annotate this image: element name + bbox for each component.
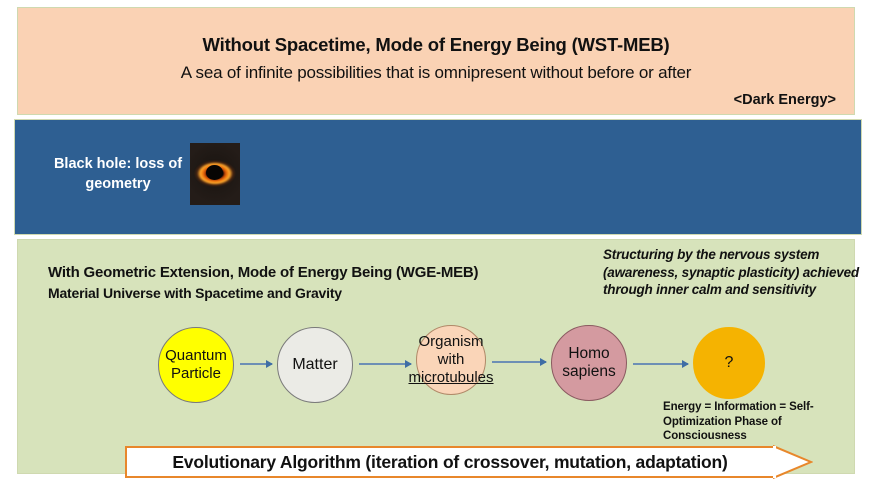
node-quantum-line1: Quantum bbox=[165, 347, 227, 365]
black-hole-core bbox=[206, 165, 223, 180]
evolutionary-algorithm-banner: Evolutionary Algorithm (iteration of cro… bbox=[125, 446, 810, 478]
node-quantum-line2: Particle bbox=[165, 365, 227, 383]
with-entangled-bridging-panel: Black hole: loss of geometry With Entang… bbox=[14, 119, 862, 235]
node-homo-line1: Homo bbox=[562, 345, 615, 363]
connector-quantum-to-matter bbox=[240, 363, 272, 365]
wge-panel-subtitle: Material Universe with Spacetime and Gra… bbox=[48, 285, 342, 301]
node-organism-line2: with bbox=[408, 351, 493, 369]
wst-panel-subtitle: A sea of infinite possibilities that is … bbox=[18, 63, 854, 83]
node-organism-line1: Organism bbox=[408, 333, 493, 351]
node-organism-with-microtubules[interactable]: Organism with microtubules bbox=[416, 325, 486, 395]
connector-matter-to-organism bbox=[359, 363, 411, 365]
node-homo-sapiens[interactable]: Homo sapiens bbox=[551, 325, 627, 401]
connector-homo-to-unknown bbox=[633, 363, 688, 365]
wst-panel-title: Without Spacetime, Mode of Energy Being … bbox=[18, 34, 854, 56]
node-organism-line3: microtubules bbox=[408, 369, 493, 387]
dark-energy-tag: <Dark Energy> bbox=[734, 92, 836, 108]
node-matter-line1: Matter bbox=[292, 356, 337, 374]
energy-information-note: Energy = Information = Self-Optimization… bbox=[663, 400, 863, 444]
black-hole-icon bbox=[190, 143, 240, 205]
black-hole-label: Black hole: loss of geometry bbox=[43, 154, 193, 194]
node-matter[interactable]: Matter bbox=[277, 327, 353, 403]
nervous-system-note: Structuring by the nervous system (aware… bbox=[603, 246, 859, 299]
connector-organism-to-homo bbox=[492, 361, 546, 363]
node-unknown-future[interactable]: ? bbox=[693, 327, 765, 399]
node-quantum-particle[interactable]: Quantum Particle bbox=[158, 327, 234, 403]
evolutionary-algorithm-label: Evolutionary Algorithm (iteration of cro… bbox=[125, 446, 775, 478]
node-unknown-label: ? bbox=[725, 354, 734, 372]
wge-panel-title: With Geometric Extension, Mode of Energy… bbox=[48, 264, 478, 281]
node-homo-line2: sapiens bbox=[562, 363, 615, 381]
without-spacetime-panel: Without Spacetime, Mode of Energy Being … bbox=[17, 7, 855, 115]
